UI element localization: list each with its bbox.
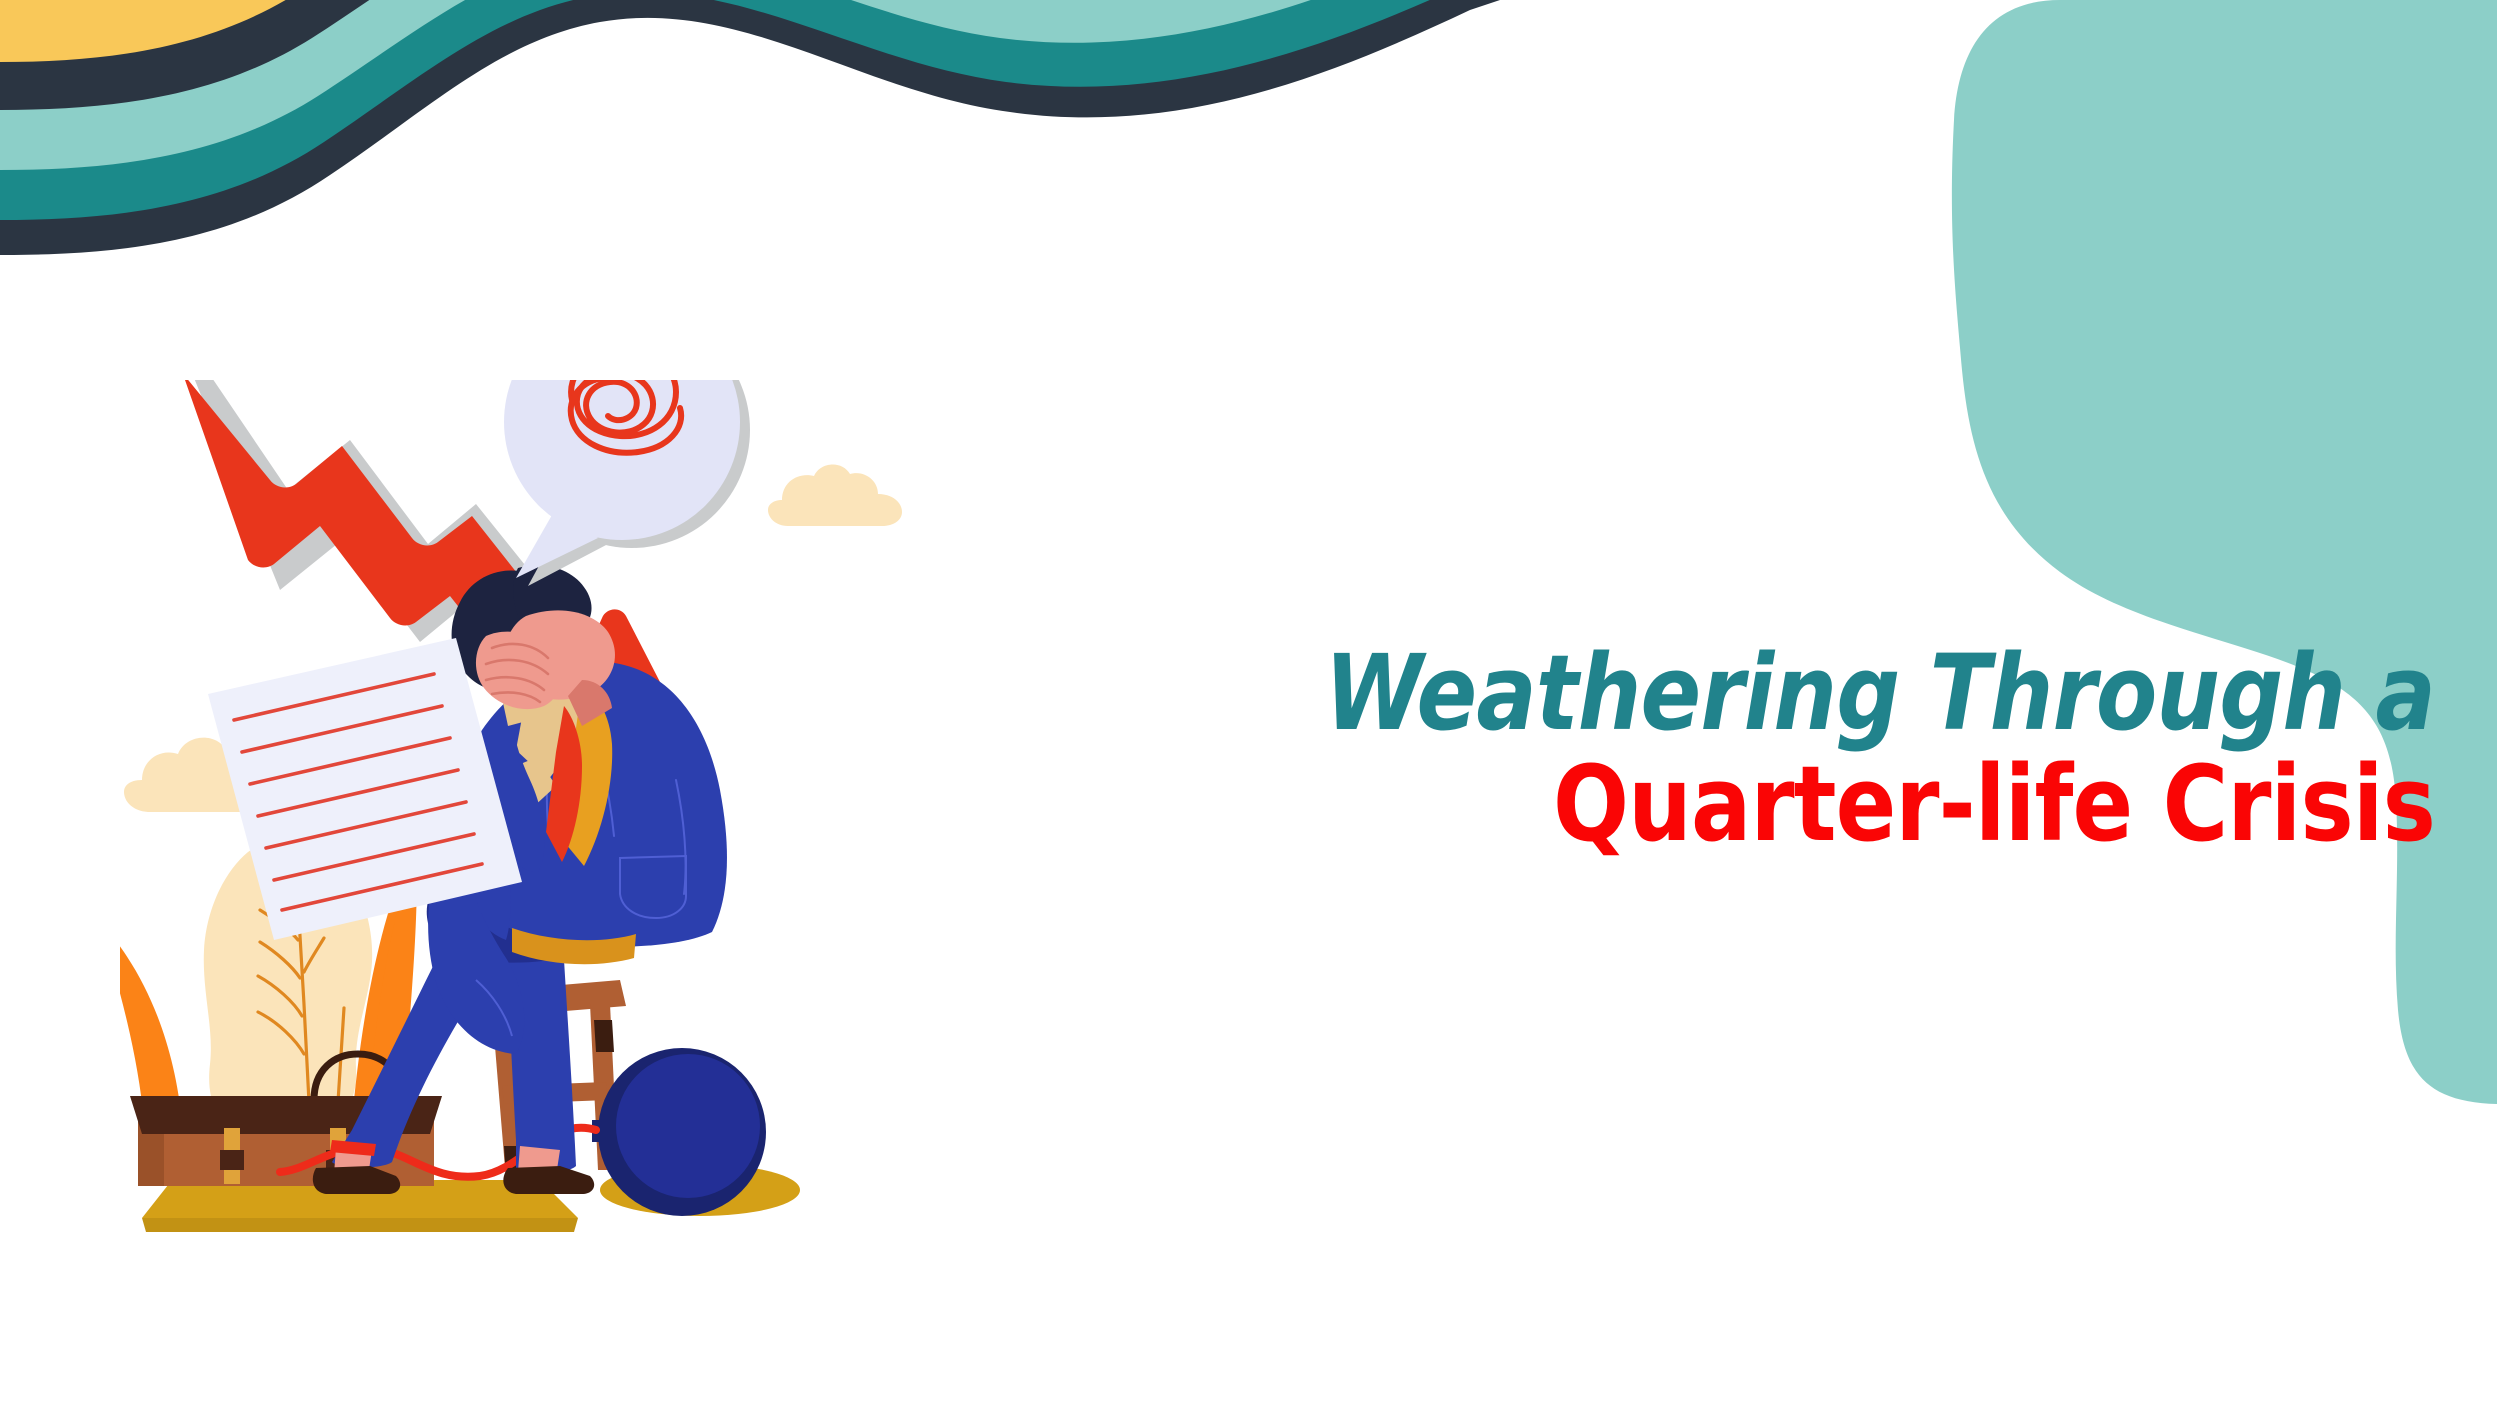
ground-platform-edge (142, 1218, 578, 1232)
ball-inner (616, 1054, 760, 1198)
title-line-secondary: Quarter-life Crisis (1231, 750, 2435, 858)
slide-canvas: Weathering Through a Quarter-life Crisis (0, 0, 2497, 1426)
cloud-right (768, 464, 902, 526)
plant-blade-left-fill (120, 920, 182, 1122)
illustration-stressed-businessman (120, 380, 1120, 1280)
stool-leg-right-foot (594, 1020, 614, 1052)
businessman-head (452, 565, 615, 726)
light-teal-blob-path (1952, 0, 2497, 1104)
briefcase-buckle-left (220, 1150, 244, 1170)
title-block: Weathering Through a Quarter-life Crisis (1035, 640, 2435, 858)
title-line-primary: Weathering Through a (1231, 640, 2435, 746)
shoe-front (503, 1166, 594, 1194)
thought-bubble (504, 380, 750, 586)
